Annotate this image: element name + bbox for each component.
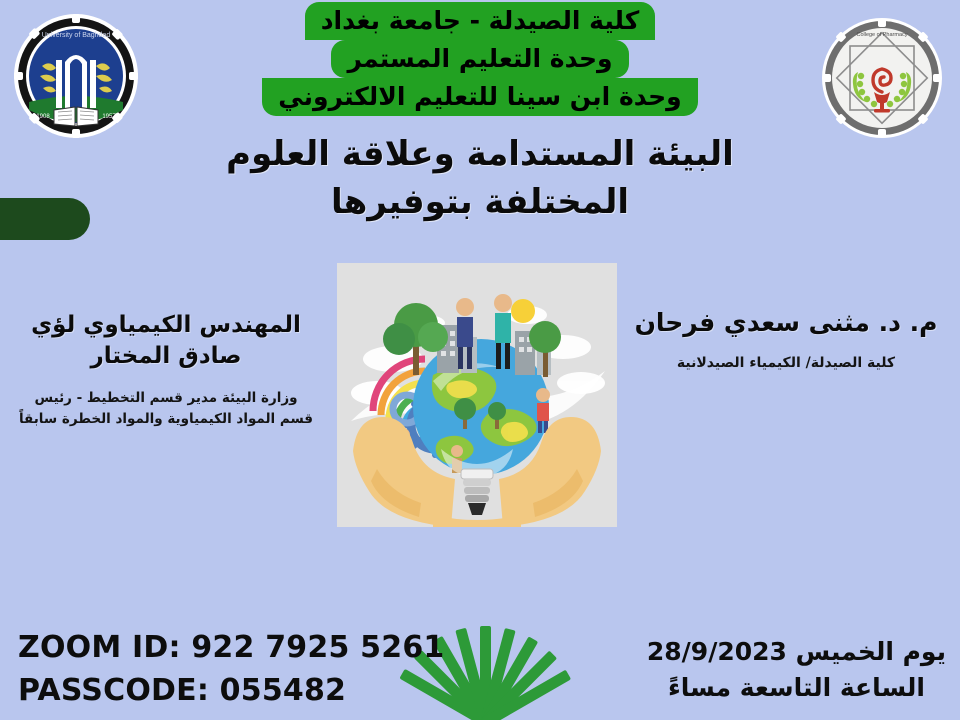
- zoom-id-line: ZOOM ID: 922 7925 5261: [18, 626, 444, 669]
- logo-year-left: 1908: [36, 114, 50, 120]
- schedule-time: الساعة التاسعة مساءً: [647, 670, 946, 706]
- speaker-left-name-line-2: صادق المختار: [6, 341, 326, 372]
- speaker-left: المهندس الكيمياوي لؤي صادق المختار وزارة…: [6, 310, 326, 430]
- banner-line-2: وحدة التعليم المستمر: [331, 40, 628, 78]
- speaker-right: م. د. مثنى سعدي فرحان كلية الصيدلة/ الكي…: [616, 306, 956, 374]
- university-of-baghdad-logo: University of Baghdad 1908 1957: [10, 10, 142, 142]
- speaker-right-name: م. د. مثنى سعدي فرحان: [616, 306, 956, 339]
- logo-caption-right: College of Pharmacy: [856, 32, 907, 38]
- zoom-passcode-line: PASSCODE: 055482: [18, 669, 444, 712]
- poster-canvas: University of Baghdad 1908 1957: [0, 0, 960, 720]
- college-of-pharmacy-logo: College of Pharmacy: [818, 14, 946, 142]
- banner-line-1: كلية الصيدلة - جامعة بغداد: [305, 2, 656, 40]
- schedule-info: يوم الخميس 28/9/2023 الساعة التاسعة مساء…: [647, 634, 946, 706]
- zoom-meeting-info: ZOOM ID: 922 7925 5261 PASSCODE: 055482: [18, 626, 444, 712]
- schedule-date: يوم الخميس 28/9/2023: [647, 634, 946, 670]
- title-line-1: البيئة المستدامة وعلاقة العلوم: [140, 130, 820, 178]
- speaker-left-affiliation-line-2: قسم المواد الكيمياوية والمواد الخطرة ساب…: [6, 409, 326, 430]
- title-line-2: المختلفة بتوفيرها: [140, 178, 820, 226]
- green-accent-bar: [0, 198, 90, 240]
- speaker-right-affiliation: كلية الصيدلة/ الكيمياء الصيدلانية: [616, 353, 956, 374]
- page-title: البيئة المستدامة وعلاقة العلوم المختلفة …: [140, 130, 820, 226]
- sustainable-environment-lightbulb-illustration: [337, 263, 617, 527]
- speaker-left-name-line-1: المهندس الكيمياوي لؤي: [6, 310, 326, 341]
- header-banner: كلية الصيدلة - جامعة بغداد وحدة التعليم …: [0, 2, 960, 116]
- logo-caption-left: University of Baghdad: [42, 32, 111, 39]
- logo-year-right: 1957: [102, 114, 116, 120]
- speaker-left-affiliation-line-1: وزارة البيئة مدير قسم التخطيط - رئيس: [6, 388, 326, 409]
- banner-line-3: وحدة ابن سينا للتعليم الالكتروني: [262, 78, 697, 116]
